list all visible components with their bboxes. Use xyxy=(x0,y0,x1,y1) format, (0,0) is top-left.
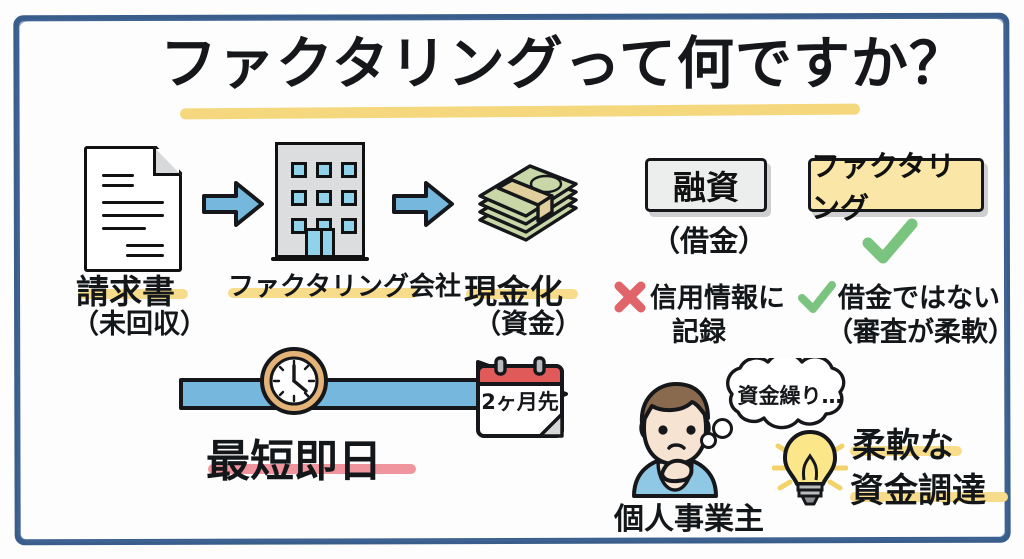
flow-arrow-2-icon xyxy=(392,178,454,230)
flow-arrow-1-icon xyxy=(202,178,264,230)
calendar-icon: 2ヶ月先 xyxy=(474,356,566,440)
benefit-line1: 柔軟な xyxy=(852,418,954,467)
loan-badge: 融資 xyxy=(645,158,767,212)
calendar-text: 2ヶ月先 xyxy=(474,386,566,416)
invoice-document-icon xyxy=(84,146,182,272)
factoring-badge: ファクタリング xyxy=(808,158,984,212)
clock-icon xyxy=(258,345,330,417)
cash-stack-icon xyxy=(472,158,584,250)
page-title: ファクタリングって何ですか？ xyxy=(160,24,880,104)
cross-mark-icon xyxy=(613,280,647,314)
loan-point-line2: 記録 xyxy=(672,310,726,349)
thought-bubble-text: 資金繰り… xyxy=(706,380,874,410)
speed-headline: 最短即日 xyxy=(206,425,382,489)
thought-bubble: 資金繰り… xyxy=(706,358,874,432)
office-building-icon xyxy=(271,142,369,270)
loan-sublabel: （借金） xyxy=(651,218,767,260)
benefit-line2: 資金調達 xyxy=(850,463,986,512)
page-title-block: ファクタリングって何ですか？ xyxy=(160,24,880,116)
factoring-check-mark-icon xyxy=(797,280,837,314)
factoring-point-line2: （審査が柔軟） xyxy=(826,310,1015,349)
flow-step-2-label: ファクタリング会社 xyxy=(228,266,461,303)
factoring-big-check-mark-icon xyxy=(862,218,918,266)
flow-step-1-sublabel: （未回収） xyxy=(72,302,207,341)
sole-proprietor-label: 個人事業主 xyxy=(614,494,764,538)
lightbulb-icon xyxy=(772,424,848,510)
flow-step-3-sublabel: （資金） xyxy=(474,302,582,341)
infographic-canvas: ファクタリングって何ですか？ 請求書 （未回収） ファクタリング会社 xyxy=(0,0,1024,559)
